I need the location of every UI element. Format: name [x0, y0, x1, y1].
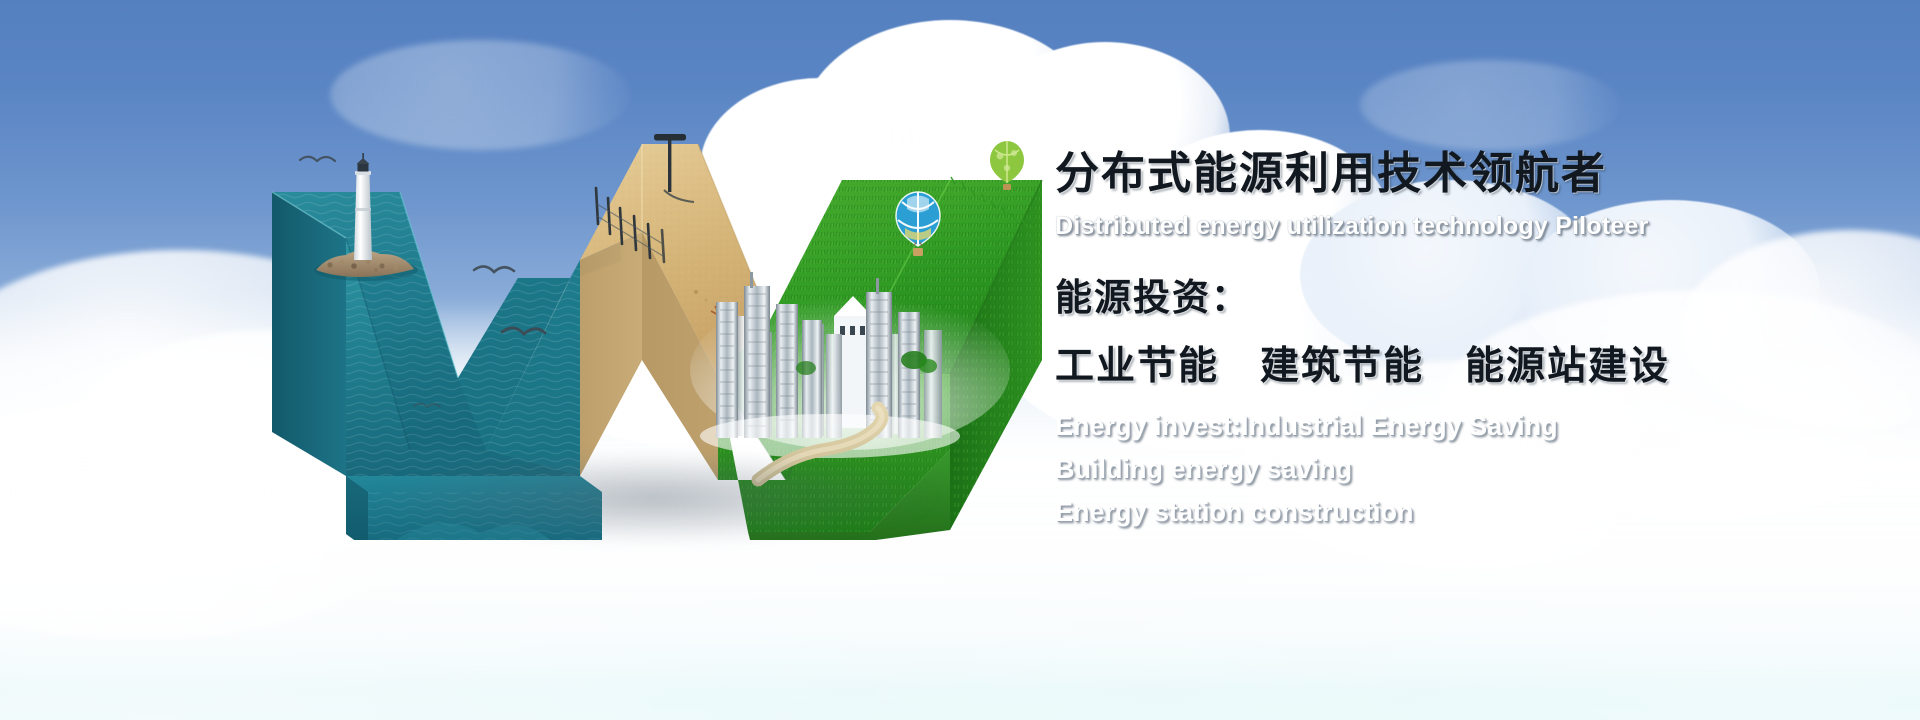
services-english-line-1: Energy invest:Industrial Energy Saving	[1055, 411, 1775, 442]
copy-block: 分布式能源利用技术领航者 Distributed energy utilizat…	[1055, 150, 1775, 528]
w-landscape-logo	[250, 120, 1070, 540]
headline-english: Distributed energy utilization technolog…	[1055, 212, 1775, 241]
services-chinese: 工业节能 建筑节能 能源站建设	[1055, 335, 1775, 391]
services-english-line-3: Energy station construction	[1055, 497, 1775, 528]
lighthouse-icon	[354, 153, 372, 260]
hero-banner: 分布式能源利用技术领航者 Distributed energy utilizat…	[0, 0, 1920, 720]
cloud-wisp-top-right	[1360, 60, 1620, 150]
ocean-front-face	[272, 192, 346, 476]
headline-chinese: 分布式能源利用技术领航者	[1055, 150, 1775, 198]
logo-ground-shadow	[290, 438, 1020, 558]
services-english-line-2: Building energy saving	[1055, 454, 1775, 485]
section-label: 能源投资：	[1055, 267, 1775, 321]
